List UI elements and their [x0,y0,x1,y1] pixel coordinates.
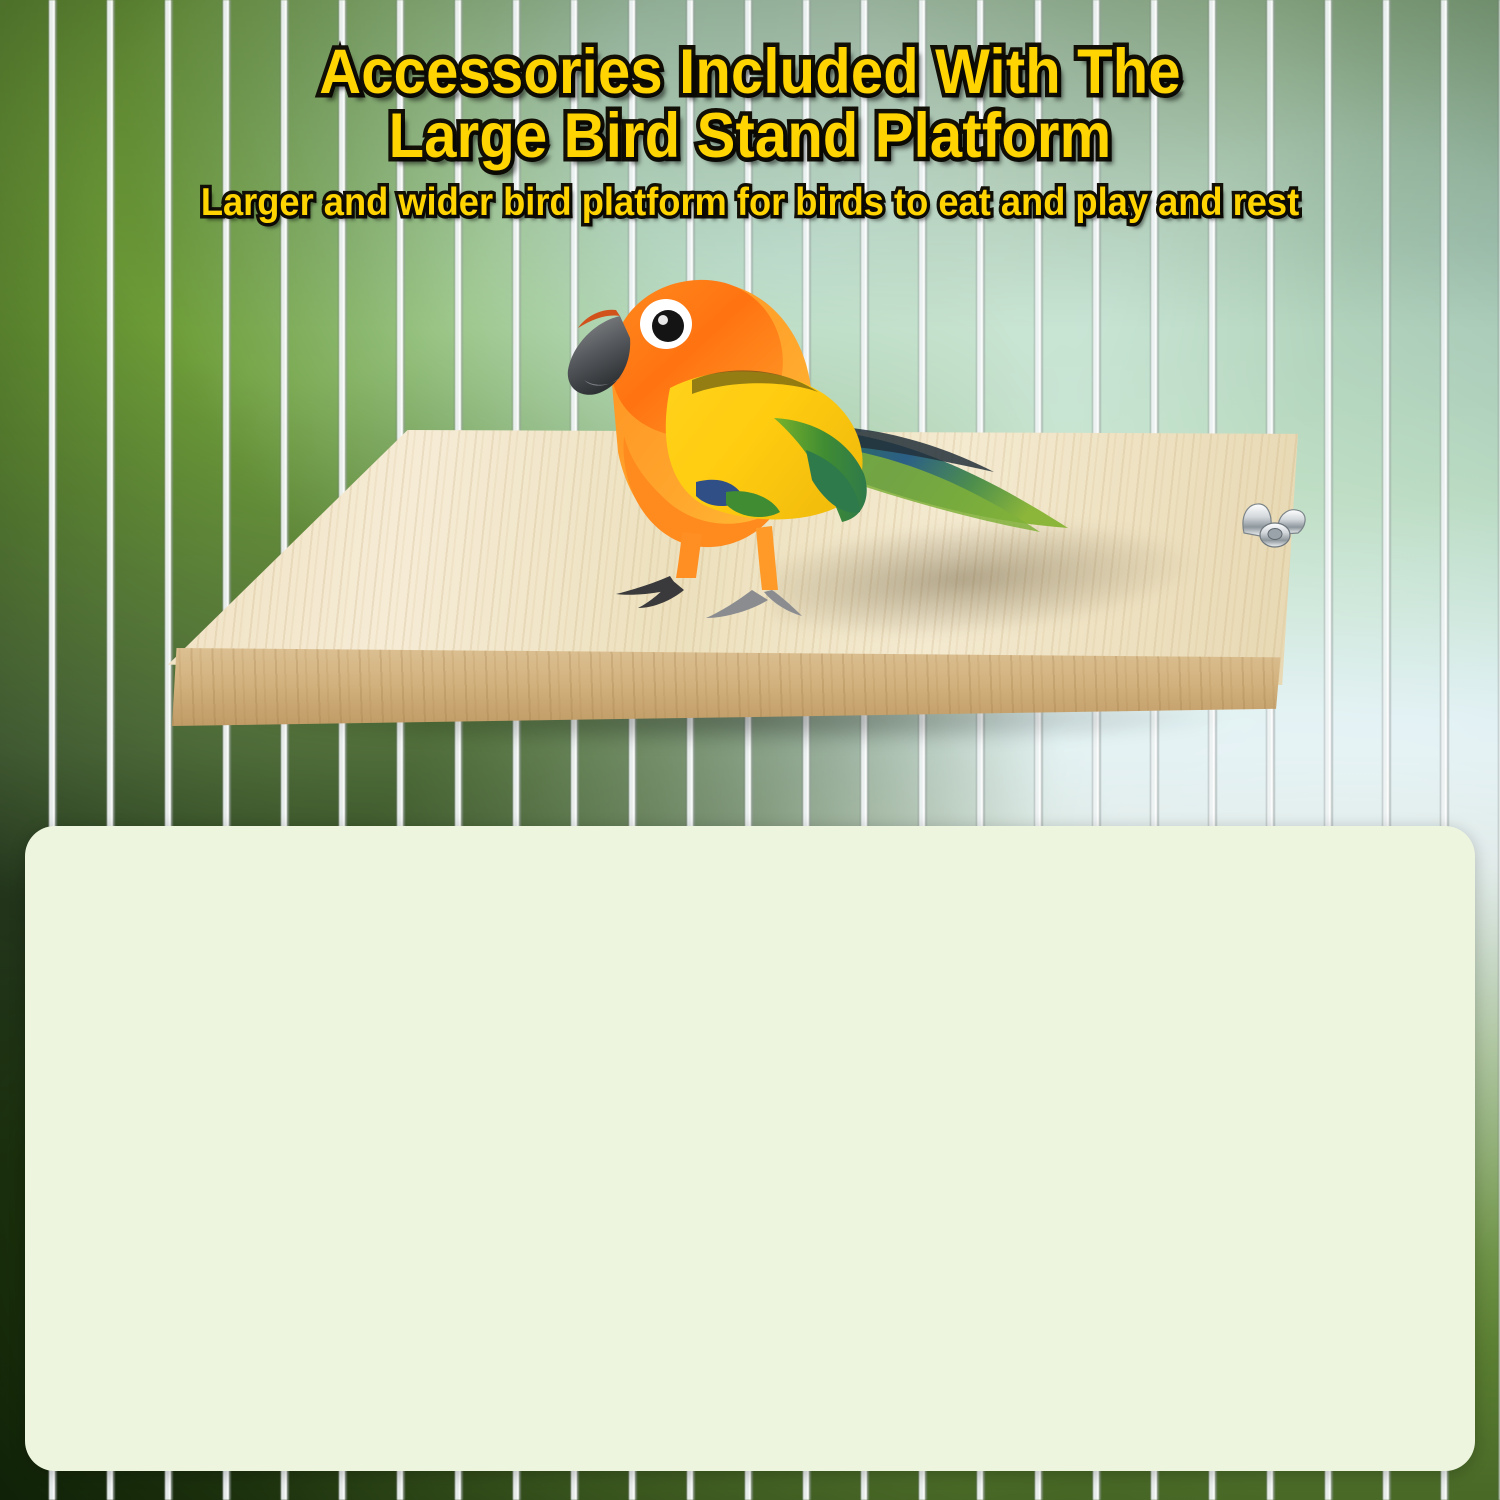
product-infographic: Accessories Included With The Large Bird… [0,0,1500,1500]
accessories-panel: Shim x 6 PCS Nut x 3 PCS Board x 1 PCS [25,826,1475,1471]
wing-nut-icon [1238,495,1312,557]
hero-scene [0,0,1500,820]
sun-conure-parrot-illustration [520,260,1080,620]
